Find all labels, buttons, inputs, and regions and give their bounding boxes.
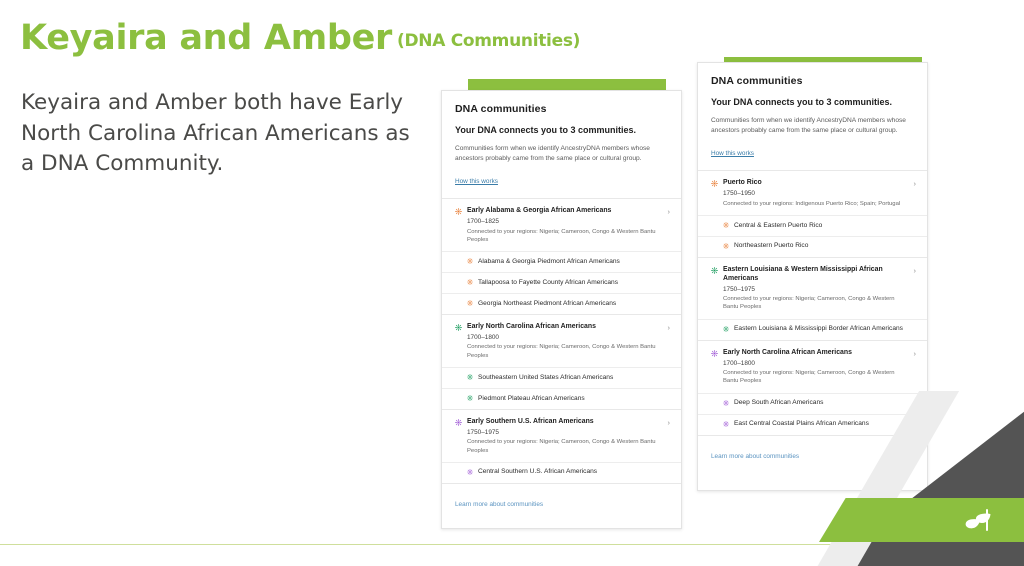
community-group-texts: Early Southern U.S. African Americans175… bbox=[467, 418, 668, 455]
slide-body-text: Keyaira and Amber both have Early North … bbox=[21, 88, 416, 180]
chevron-right-icon[interactable]: › bbox=[668, 419, 671, 427]
community-years: 1750–1975 bbox=[723, 286, 904, 294]
community-group-header[interactable]: Eastern Louisiana & Western Mississippi … bbox=[698, 258, 927, 319]
subcommunity-row[interactable]: Piedmont Plateau African Americans bbox=[442, 388, 681, 409]
subcommunity-row[interactable]: Eastern Louisiana & Mississippi Border A… bbox=[698, 319, 927, 340]
card-description: Communities form when we identify Ancest… bbox=[455, 144, 668, 163]
card-description: Communities form when we identify Ancest… bbox=[711, 116, 914, 135]
subcommunity-row[interactable]: Tallapoosa to Fayette County African Ame… bbox=[442, 272, 681, 293]
community-bullet-icon bbox=[455, 419, 462, 426]
community-years: 1700–1825 bbox=[467, 218, 658, 226]
dna-communities-card-left: DNA communitiesYour DNA connects you to … bbox=[441, 90, 682, 529]
subcommunity-name: Alabama & Georgia Piedmont African Ameri… bbox=[478, 258, 620, 267]
community-bullet-icon bbox=[467, 374, 473, 380]
community-group-texts: Puerto Rico1750–1950Connected to your re… bbox=[723, 179, 914, 208]
chevron-right-icon[interactable]: › bbox=[668, 208, 671, 216]
card-title: DNA communities bbox=[711, 75, 914, 87]
community-regions: Connected to your regions: Nigeria; Came… bbox=[467, 343, 658, 360]
community-group: Eastern Louisiana & Western Mississippi … bbox=[698, 258, 927, 341]
community-group-header[interactable]: Early Alabama & Georgia African American… bbox=[442, 199, 681, 251]
card-header: DNA communitiesYour DNA connects you to … bbox=[698, 63, 927, 171]
community-bullet-icon bbox=[711, 267, 718, 274]
chevron-right-icon[interactable]: › bbox=[914, 350, 917, 358]
community-group-header[interactable]: Early Southern U.S. African Americans175… bbox=[442, 410, 681, 462]
community-name: Early North Carolina African Americans bbox=[467, 323, 658, 332]
page-title: Keyaira and Amber(DNA Communities) bbox=[20, 18, 580, 58]
community-bullet-icon bbox=[467, 300, 473, 306]
leaf-logo-icon bbox=[962, 504, 994, 536]
subcommunity-row[interactable]: Southeastern United States African Ameri… bbox=[442, 367, 681, 388]
subcommunity-name: Piedmont Plateau African Americans bbox=[478, 395, 585, 404]
community-name: Early Alabama & Georgia African American… bbox=[467, 207, 658, 216]
community-bullet-icon bbox=[467, 258, 473, 264]
subcommunity-row[interactable]: Central Southern U.S. African Americans bbox=[442, 462, 681, 483]
community-bullet-icon bbox=[723, 326, 729, 332]
community-group-texts: Early North Carolina African Americans17… bbox=[467, 323, 668, 360]
community-group-texts: Eastern Louisiana & Western Mississippi … bbox=[723, 266, 914, 312]
chevron-right-icon[interactable]: › bbox=[914, 180, 917, 188]
community-group: Early Southern U.S. African Americans175… bbox=[442, 410, 681, 484]
community-regions: Connected to your regions: Nigeria; Came… bbox=[467, 438, 658, 455]
community-group-header[interactable]: Early North Carolina African Americans17… bbox=[442, 315, 681, 367]
subcommunity-row[interactable]: Georgia Northeast Piedmont African Ameri… bbox=[442, 293, 681, 314]
community-bullet-icon bbox=[723, 421, 729, 427]
community-regions: Connected to your regions: Nigeria; Came… bbox=[723, 369, 904, 386]
community-group-header[interactable]: Early North Carolina African Americans17… bbox=[698, 341, 927, 393]
card-title: DNA communities bbox=[455, 103, 668, 115]
community-group-texts: Early Alabama & Georgia African American… bbox=[467, 207, 668, 244]
community-regions: Connected to your regions: Nigeria; Came… bbox=[723, 295, 904, 312]
community-group: Early Alabama & Georgia African American… bbox=[442, 199, 681, 315]
community-bullet-icon bbox=[467, 395, 473, 401]
card-header: DNA communitiesYour DNA connects you to … bbox=[442, 91, 681, 199]
community-regions: Connected to your regions: Nigeria; Came… bbox=[467, 228, 658, 245]
subcommunity-name: Tallapoosa to Fayette County African Ame… bbox=[478, 279, 618, 288]
learn-more-link[interactable]: Learn more about communities bbox=[455, 501, 543, 508]
community-bullet-icon bbox=[455, 324, 462, 331]
community-bullet-icon bbox=[711, 350, 718, 357]
subcommunity-name: Eastern Louisiana & Mississippi Border A… bbox=[734, 325, 903, 334]
community-years: 1750–1975 bbox=[467, 429, 658, 437]
page-title-subtitle: (DNA Communities) bbox=[397, 31, 580, 51]
community-group: Puerto Rico1750–1950Connected to your re… bbox=[698, 171, 927, 257]
subcommunity-name: Georgia Northeast Piedmont African Ameri… bbox=[478, 300, 616, 309]
community-group-header[interactable]: Puerto Rico1750–1950Connected to your re… bbox=[698, 171, 927, 215]
subcommunity-row[interactable]: Central & Eastern Puerto Rico bbox=[698, 215, 927, 236]
card-subtitle: Your DNA connects you to 3 communities. bbox=[455, 125, 668, 136]
how-this-works-link[interactable]: How this works bbox=[455, 178, 498, 185]
slide-canvas: Keyaira and Amber(DNA Communities) Keyai… bbox=[0, 0, 1024, 566]
learn-more-link[interactable]: Learn more about communities bbox=[711, 453, 799, 460]
subcommunity-name: Central Southern U.S. African Americans bbox=[478, 468, 597, 477]
community-group-texts: Early North Carolina African Americans17… bbox=[723, 349, 914, 386]
community-bullet-icon bbox=[467, 469, 473, 475]
community-years: 1700–1800 bbox=[467, 334, 658, 342]
chevron-right-icon[interactable]: › bbox=[668, 324, 671, 332]
community-years: 1700–1800 bbox=[723, 360, 904, 368]
subcommunity-name: Southeastern United States African Ameri… bbox=[478, 374, 613, 383]
community-name: Puerto Rico bbox=[723, 179, 904, 188]
card-subtitle: Your DNA connects you to 3 communities. bbox=[711, 97, 914, 108]
community-bullet-icon bbox=[455, 208, 462, 215]
community-bullet-icon bbox=[723, 400, 729, 406]
community-name: Eastern Louisiana & Western Mississippi … bbox=[723, 266, 904, 284]
how-this-works-link[interactable]: How this works bbox=[711, 150, 754, 157]
community-years: 1750–1950 bbox=[723, 190, 904, 198]
community-regions: Connected to your regions: Indigenous Pu… bbox=[723, 200, 904, 208]
community-bullet-icon bbox=[723, 222, 729, 228]
corner-decoration bbox=[794, 391, 1024, 566]
community-bullet-icon bbox=[711, 180, 718, 187]
subcommunity-row[interactable]: Northeastern Puerto Rico bbox=[698, 236, 927, 257]
community-bullet-icon bbox=[723, 243, 729, 249]
subcommunity-row[interactable]: Alabama & Georgia Piedmont African Ameri… bbox=[442, 251, 681, 272]
community-group: Early North Carolina African Americans17… bbox=[442, 315, 681, 410]
card-footer: Learn more about communities bbox=[442, 484, 681, 521]
subcommunity-name: Central & Eastern Puerto Rico bbox=[734, 222, 822, 231]
subcommunity-name: Northeastern Puerto Rico bbox=[734, 242, 808, 251]
community-bullet-icon bbox=[467, 279, 473, 285]
chevron-right-icon[interactable]: › bbox=[914, 267, 917, 275]
page-title-main: Keyaira and Amber bbox=[20, 18, 392, 58]
community-name: Early Southern U.S. African Americans bbox=[467, 418, 658, 427]
community-name: Early North Carolina African Americans bbox=[723, 349, 904, 358]
